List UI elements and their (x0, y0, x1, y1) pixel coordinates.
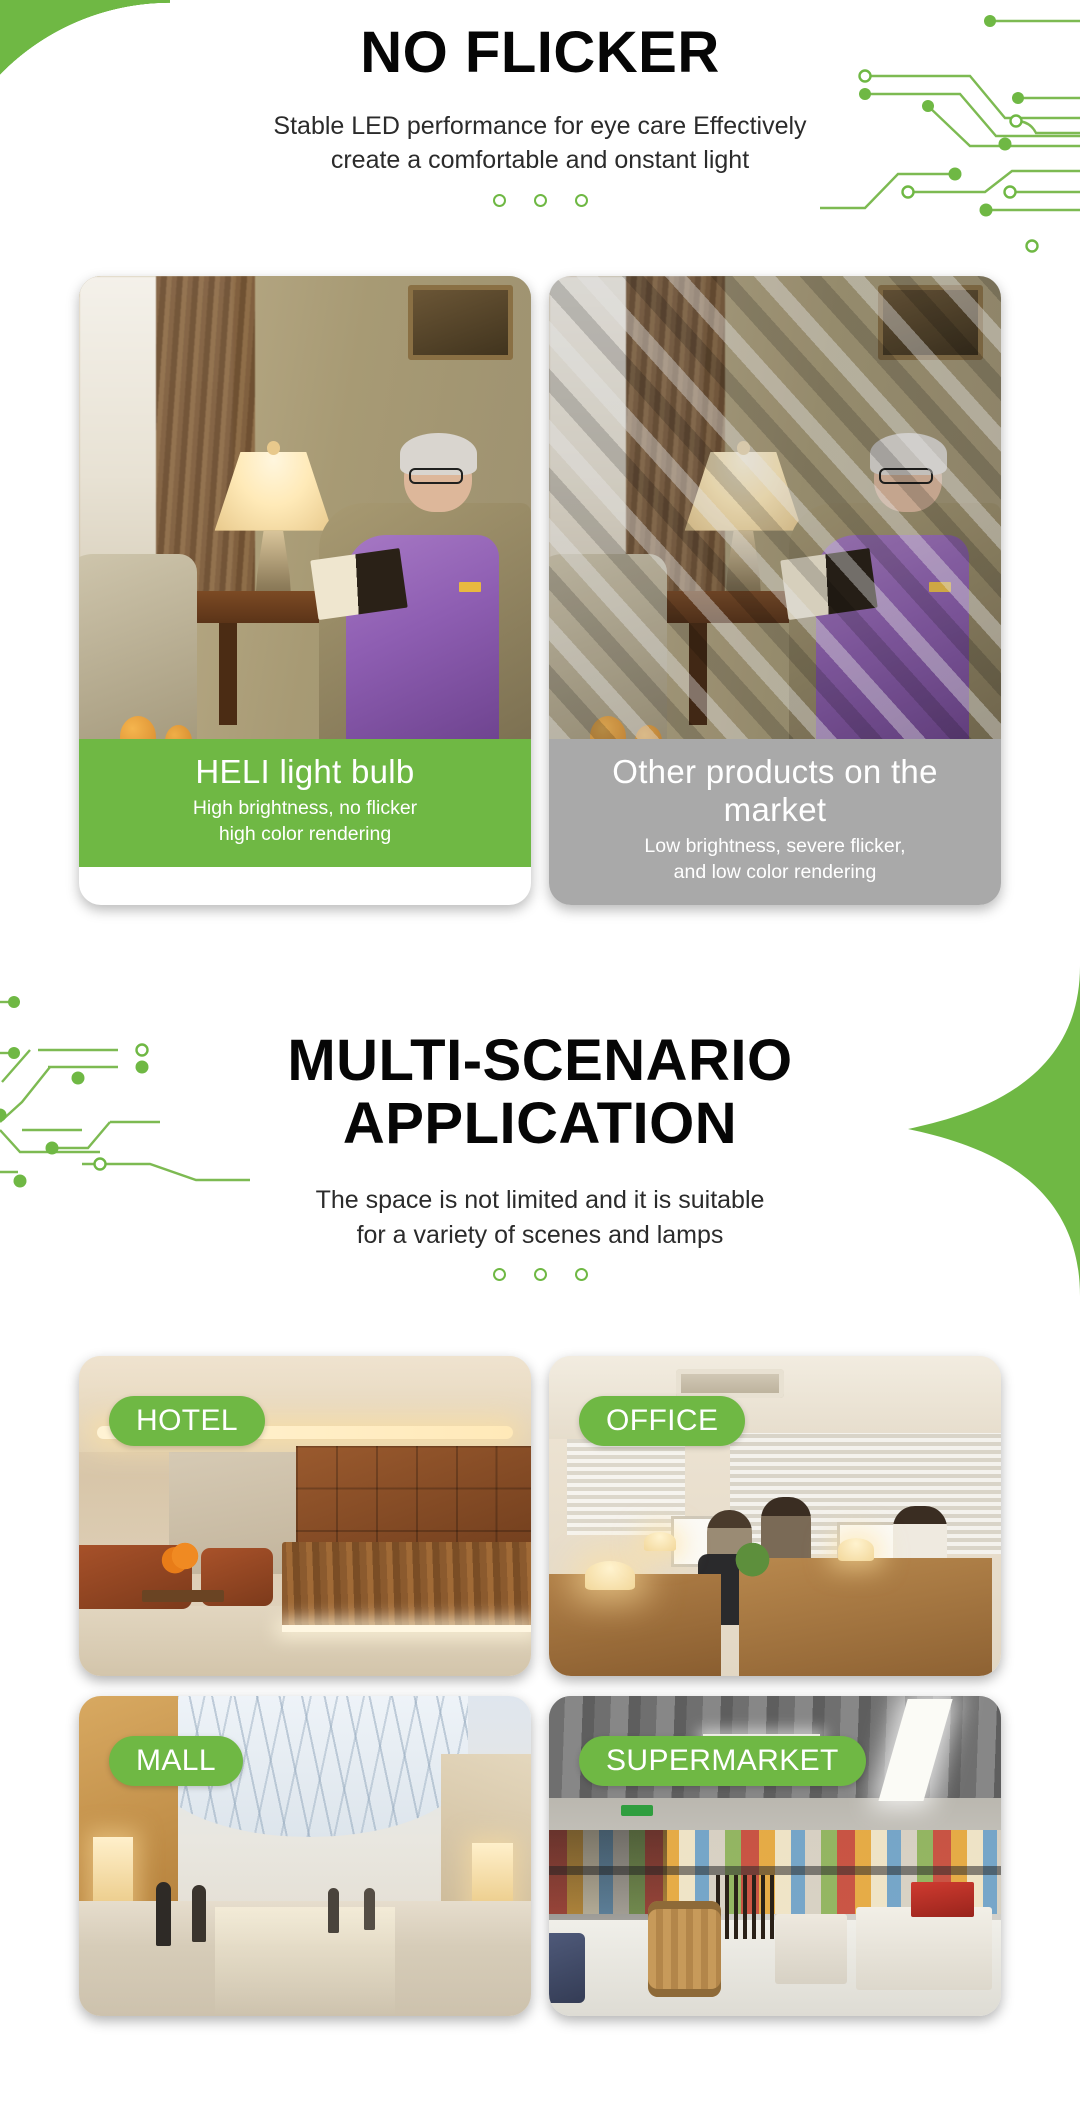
dot-icon (534, 1268, 547, 1281)
dot-separator (0, 194, 1080, 207)
subtitle-line-1: Stable LED performance for eye care Effe… (0, 109, 1080, 144)
comparison-photo-heli (79, 276, 531, 739)
scenario-card-supermarket[interactable]: SUPERMARKET (549, 1696, 1001, 2016)
caption-line-1: High brightness, no flicker (89, 796, 521, 822)
room-scene-steady-light (79, 276, 531, 739)
subtitle-line-2: for a variety of scenes and lamps (0, 1218, 1080, 1253)
page-title-multi-scenario-line-2: APPLICATION (0, 1093, 1080, 1156)
scenario-card-mall[interactable]: MALL (79, 1696, 531, 2016)
dot-icon (575, 1268, 588, 1281)
dot-icon (534, 194, 547, 207)
caption-line-2: high color rendering (89, 822, 521, 848)
scenario-badge-supermarket: SUPERMARKET (579, 1736, 866, 1786)
dot-icon (493, 1268, 506, 1281)
comparison-card-heli[interactable]: HELI light bulb High brightness, no flic… (79, 276, 531, 905)
subtitle-line-2: create a comfortable and onstant light (0, 143, 1080, 178)
subtitle-line-1: The space is not limited and it is suita… (0, 1183, 1080, 1218)
scenario-badge-office: OFFICE (579, 1396, 745, 1446)
comparison-card-other[interactable]: Other products on the market Low brightn… (549, 276, 1001, 905)
page-title-no-flicker: NO FLICKER (0, 22, 1080, 85)
caption-title: HELI light bulb (89, 753, 521, 791)
comparison-caption-other: Other products on the market Low brightn… (549, 739, 1001, 905)
room-scene-flicker (549, 276, 1001, 739)
scenario-badge-mall: MALL (109, 1736, 243, 1786)
scenario-card-office[interactable]: OFFICE (549, 1356, 1001, 1676)
caption-line-2: and low color rendering (559, 860, 991, 886)
dot-icon (575, 194, 588, 207)
dot-separator (0, 1268, 1080, 1281)
page-title-multi-scenario-line-1: MULTI-SCENARIO (0, 1030, 1080, 1093)
scenario-badge-hotel: HOTEL (109, 1396, 265, 1446)
comparison-row: HELI light bulb High brightness, no flic… (0, 276, 1080, 905)
scenario-card-hotel[interactable]: HOTEL (79, 1356, 531, 1676)
dot-icon (493, 194, 506, 207)
caption-title: Other products on the market (559, 753, 991, 829)
comparison-caption-heli: HELI light bulb High brightness, no flic… (79, 739, 531, 867)
section-multi-scenario: MULTI-SCENARIO APPLICATION The space is … (0, 1030, 1080, 1281)
scenario-grid: HOTEL OFFICE MALL (0, 1356, 1080, 2016)
caption-line-1: Low brightness, severe flicker, (559, 834, 991, 860)
comparison-photo-other (549, 276, 1001, 739)
section-no-flicker: NO FLICKER Stable LED performance for ey… (0, 22, 1080, 207)
